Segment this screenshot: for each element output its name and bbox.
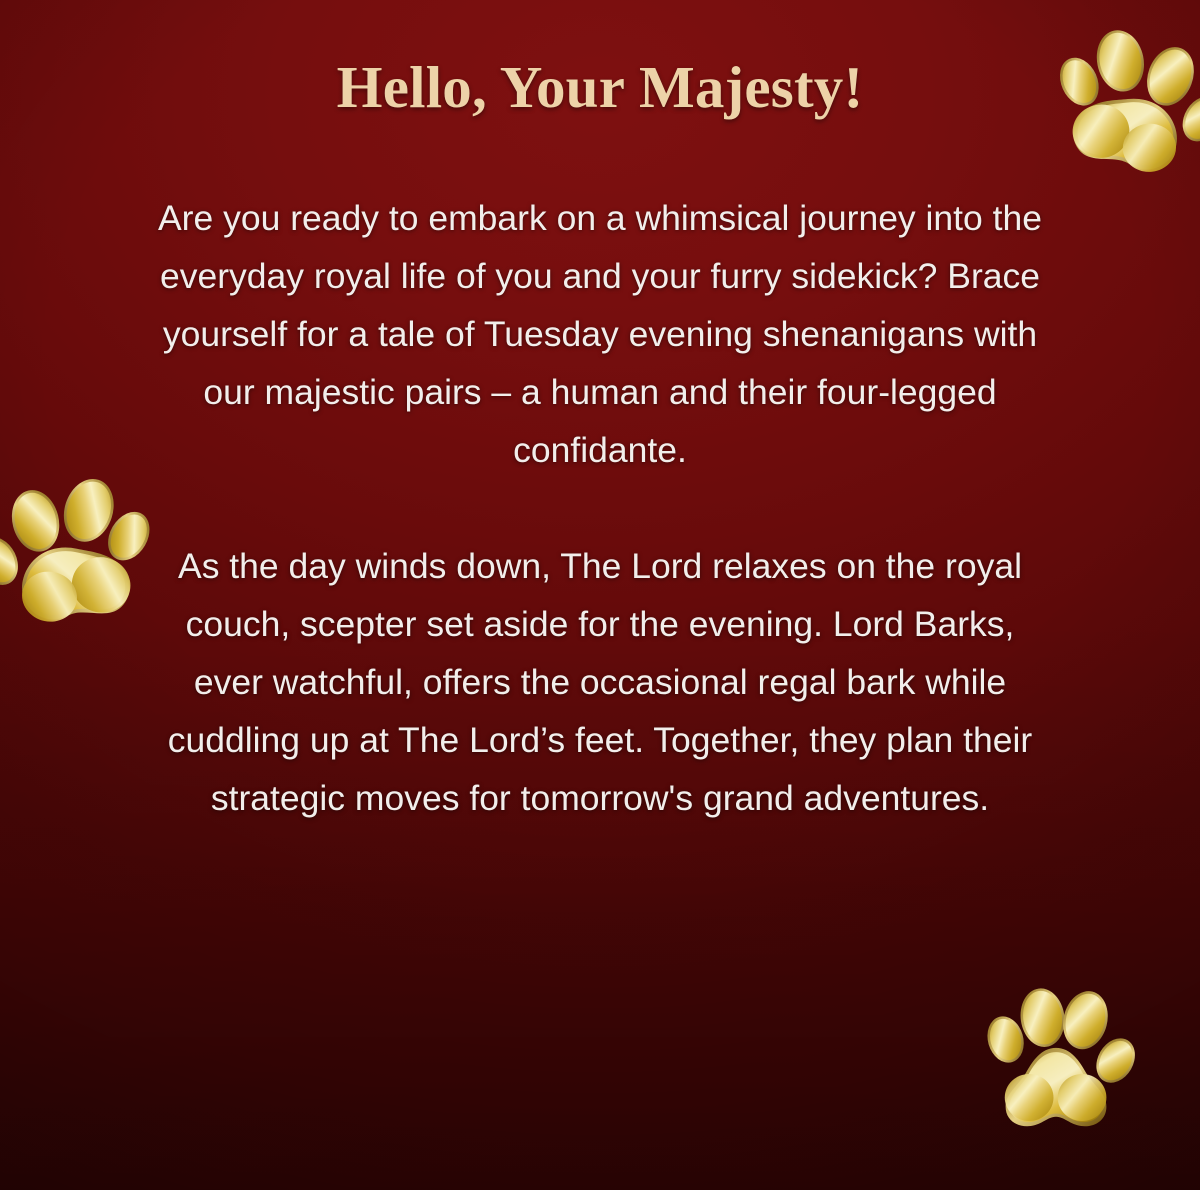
body-text-block: Are you ready to embark on a whimsical j… <box>150 189 1050 827</box>
card-content: Hello, Your Majesty! Are you ready to em… <box>0 0 1200 1190</box>
page-title: Hello, Your Majesty! <box>337 58 864 117</box>
paragraph-evening-scene: As the day winds down, The Lord relaxes … <box>150 537 1050 827</box>
paragraph-intro: Are you ready to embark on a whimsical j… <box>150 189 1050 479</box>
